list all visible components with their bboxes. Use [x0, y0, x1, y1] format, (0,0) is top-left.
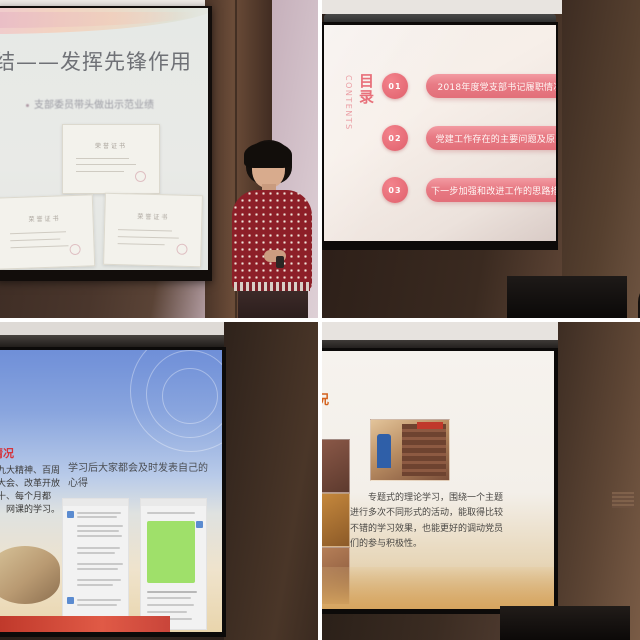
certificate-seal-icon	[135, 171, 146, 182]
chat-line	[147, 512, 195, 514]
certificate-line	[118, 229, 172, 231]
chat-avatar-icon	[67, 597, 74, 604]
chat-screenshot-1: 微信聊天记录截图	[62, 498, 129, 630]
side-wall	[562, 0, 640, 318]
red-banner-detail	[417, 422, 443, 429]
chat-line	[77, 579, 121, 581]
chat-avatar-icon	[196, 521, 203, 528]
certificate-line	[10, 231, 66, 234]
presenter-hem-trim	[234, 282, 310, 291]
collage-panel-bottom-left: 情况 十九大精神、百周年大会、改革开放四十、每个月都组、网课的学习。 学习后大家…	[0, 322, 318, 640]
slide-paragraph: 专题式的理论学习，围绕一个主题进行多次不同形式的活动，能取得比较不错的学习效果，…	[350, 491, 510, 552]
certificate-line	[76, 171, 124, 172]
slide-right-heading: 学习后大家都会及时发表自己的心得	[68, 462, 208, 491]
chat-line	[77, 530, 119, 532]
presenter-fringe	[244, 142, 292, 168]
contents-label-english: CONTENTS	[344, 75, 353, 131]
decorative-ripple	[162, 368, 218, 424]
certificate-line	[76, 164, 136, 165]
presenter-torso	[232, 190, 312, 290]
chat-line	[77, 604, 117, 606]
slide-bullet-line: 支部委员带头做出示范业绩	[26, 96, 208, 111]
chat-line	[77, 563, 123, 565]
collage-panel-top-right: CONTENTS 目录 01 2018年度党支部书记履职情况 02 党建工作存在…	[322, 0, 640, 318]
slide-bottom-banner	[0, 616, 170, 632]
chat-avatar-icon	[67, 511, 74, 518]
slide-photo-thumbnail	[0, 546, 60, 604]
presentation-clicker-icon	[276, 256, 284, 268]
slide-photo-2	[322, 493, 350, 547]
slide-photo-1	[322, 439, 350, 493]
certificate-image-2: 荣誉证书	[0, 194, 95, 269]
slide-heading: 况	[322, 389, 329, 408]
certificate-heading: 荣誉证书	[0, 212, 93, 224]
chat-titlebar	[63, 499, 128, 506]
bookshelf-detail	[402, 424, 446, 476]
photo-collage: 结——发挥先锋作用 支部委员带头做出示范业绩 荣誉证书 荣誉证书 荣誉证书	[0, 0, 640, 640]
certificate-line	[11, 238, 61, 241]
collage-panel-bottom-right: 况 专题式的理论学习，围绕一个主题进行多次不同形式的活动，能取得比较不错的学习效…	[322, 322, 640, 640]
presenter-top-left	[228, 140, 318, 318]
presenter-desk	[500, 606, 630, 640]
speaker-figure-detail	[377, 434, 391, 468]
certificate-heading: 荣誉证书	[105, 211, 201, 223]
toc-number-badge: 03	[382, 177, 408, 203]
slide-heading: 情况	[0, 445, 14, 461]
toc-number-badge: 02	[382, 125, 408, 151]
certificate-line	[76, 158, 129, 159]
chat-line	[147, 604, 194, 606]
slide-main-photo	[370, 419, 450, 481]
toc-item-pill: 党建工作存在的主要问题及原因	[426, 126, 556, 150]
slide-bottom-right: 况 专题式的理论学习，围绕一个主题进行多次不同形式的活动，能取得比较不错的学习效…	[322, 351, 554, 609]
chat-screenshot-2: 微信聊天记录截图	[140, 498, 207, 630]
side-wall	[224, 322, 318, 640]
chat-line	[77, 547, 120, 549]
chat-line	[77, 512, 121, 514]
slide-bottom-left: 情况 十九大精神、百周年大会、改革开放四十、每个月都组、网课的学习。 学习后大家…	[0, 350, 222, 632]
slide-top-right: CONTENTS 目录 01 2018年度党支部书记履职情况 02 党建工作存在…	[324, 25, 556, 241]
chat-line	[77, 525, 123, 527]
chat-line	[147, 611, 187, 613]
certificate-seal-icon	[176, 243, 187, 254]
certificate-image-1: 荣誉证书	[62, 124, 160, 194]
chat-line	[77, 552, 115, 554]
slide-top-left: 结——发挥先锋作用 支部委员带头做出示范业绩 荣誉证书 荣誉证书 荣誉证书	[0, 8, 208, 270]
toc-item-pill: 下一步加强和改进工作的思路措施	[426, 178, 556, 202]
chat-line	[77, 535, 122, 537]
collage-panel-top-left: 结——发挥先锋作用 支部委员带头做出示范业绩 荣誉证书 荣誉证书 荣誉证书	[0, 0, 318, 318]
slide-left-text: 十九大精神、百周年大会、改革开放四十、每个月都组、网课的学习。	[0, 465, 62, 517]
certificate-image-3: 荣誉证书	[103, 193, 203, 268]
chat-line	[77, 584, 113, 586]
chat-line	[77, 516, 117, 518]
wall-vent-icon	[612, 492, 634, 508]
certificate-line	[11, 245, 69, 248]
slide-title: 结——发挥先锋作用	[0, 46, 208, 76]
bullet-dot-icon	[26, 104, 29, 107]
slide-bottom-gradient	[322, 567, 554, 609]
contents-label-chinese: 目录	[356, 73, 377, 105]
chat-bubble-highlight	[147, 521, 195, 583]
certificate-line	[118, 236, 178, 239]
slide-bullet-text: 支部委员带头做出示范业绩	[34, 100, 154, 111]
certificate-seal-icon	[69, 244, 80, 255]
certificate-heading: 荣誉证书	[63, 141, 159, 150]
presenter-skirt	[238, 291, 308, 318]
side-wall	[558, 322, 640, 640]
chat-line	[147, 591, 197, 593]
screen-roller-housing	[0, 335, 228, 347]
presenter-desk	[507, 276, 627, 318]
toc-number-badge: 01	[382, 73, 408, 99]
chat-line	[77, 599, 121, 601]
slide-ribbon-decoration-secondary	[0, 12, 205, 28]
toc-item-pill: 2018年度党支部书记履职情况	[426, 74, 556, 98]
certificate-line	[118, 243, 164, 245]
chat-line	[77, 568, 118, 570]
chat-line	[147, 597, 191, 599]
chat-titlebar	[141, 499, 206, 506]
